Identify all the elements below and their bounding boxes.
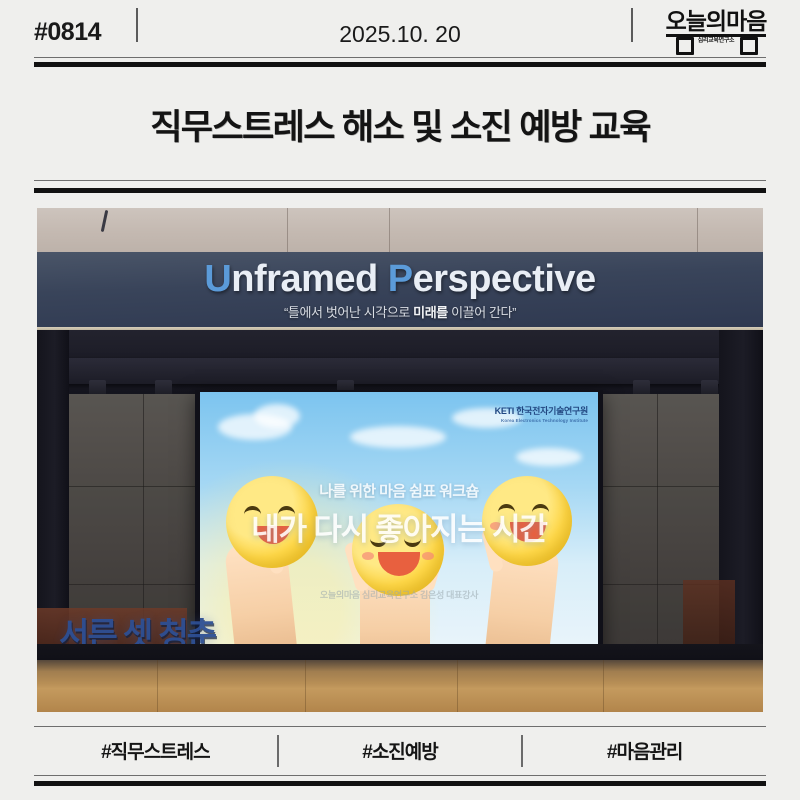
banner-title-initial-u: U — [204, 258, 231, 300]
brand-logo: 오늘의마음 심리교육연구소 — [664, 9, 768, 53]
wall-seam — [389, 208, 390, 252]
hall-banner-subtitle: “틀에서 벗어난 시각으로 미래를 이끌어 간다” — [37, 302, 763, 321]
keti-logo-text: KETI 한국전자기술연구원 — [495, 404, 588, 417]
stage-riser-right — [683, 580, 735, 654]
footer-rule-thin — [34, 775, 766, 776]
hashtag-item[interactable]: #직무스트레스 — [34, 737, 277, 764]
keti-name-kr: 한국전자기술연구원 — [516, 406, 588, 416]
cloud-shape — [254, 404, 300, 428]
card-header: #0814 2025.10. 20 오늘의마음 심리교육연구소 — [0, 0, 800, 62]
banner-title-part1: nframed — [231, 258, 387, 300]
banner-sub-mid1: 에서 벗어난 시각으로 — [299, 305, 413, 320]
wall-seam — [287, 208, 288, 252]
page-title: 직무스트레스 해소 및 소진 예방 교육 — [0, 99, 800, 150]
card-root: #0814 2025.10. 20 오늘의마음 심리교육연구소 직무스트레스 해… — [0, 0, 800, 800]
event-photo: Unframed Perspective “틀에서 벗어난 시각으로 미래를 이… — [37, 208, 763, 712]
brand-logo-name: 오늘의마음 — [664, 9, 768, 33]
banner-title-part2: erspective — [413, 258, 596, 300]
photo-back-wall — [37, 208, 763, 252]
keti-logo: KETI 한국전자기술연구원 Korea Electronics Technol… — [495, 404, 588, 423]
stage-floor-gloss — [37, 660, 763, 684]
cloud-shape — [350, 426, 446, 448]
mid-rule-thick — [34, 188, 766, 193]
wall-seam — [697, 208, 698, 252]
banner-sub-bold: 미래를 — [413, 305, 448, 320]
keti-name-en: Korea Electronics Technology Institute — [495, 418, 588, 423]
header-rule-thin — [34, 57, 766, 58]
hall-banner: Unframed Perspective “틀에서 벗어난 시각으로 미래를 이… — [37, 252, 763, 330]
brand-logo-tagline: 심리교육연구소 — [664, 36, 768, 46]
cloud-shape — [516, 448, 582, 466]
keti-mark: KETI — [495, 406, 514, 416]
mid-rule-thin — [34, 180, 766, 181]
slide-credit: 오늘의마음 심리교육연구소 김은성 대표강사 — [200, 588, 598, 601]
hashtag-item[interactable]: #소진예방 — [279, 737, 522, 764]
footer-rule-thick — [34, 781, 766, 786]
slide-title: 내가 다시 좋아지는 시간 — [200, 504, 598, 549]
header-rule-thick — [34, 62, 766, 67]
lighting-truss — [37, 358, 763, 384]
banner-title-initial-p: P — [388, 258, 413, 300]
projection-screen: KETI 한국전자기술연구원 Korea Electronics Technol… — [200, 392, 598, 672]
banner-sub-mid2: 이끌어 간다” — [448, 305, 516, 320]
hashtag-item[interactable]: #마음관리 — [523, 737, 766, 764]
hall-banner-title: Unframed Perspective — [37, 258, 763, 301]
banner-sub-open: “틀 — [284, 305, 300, 320]
header-divider-right — [631, 8, 633, 42]
hashtag-bar: #직무스트레스 #소진예방 #마음관리 — [34, 726, 766, 775]
presentation-slide: KETI 한국전자기술연구원 Korea Electronics Technol… — [200, 392, 598, 672]
slide-kicker: 나를 위한 마음 쉼표 워크숍 — [200, 480, 598, 501]
